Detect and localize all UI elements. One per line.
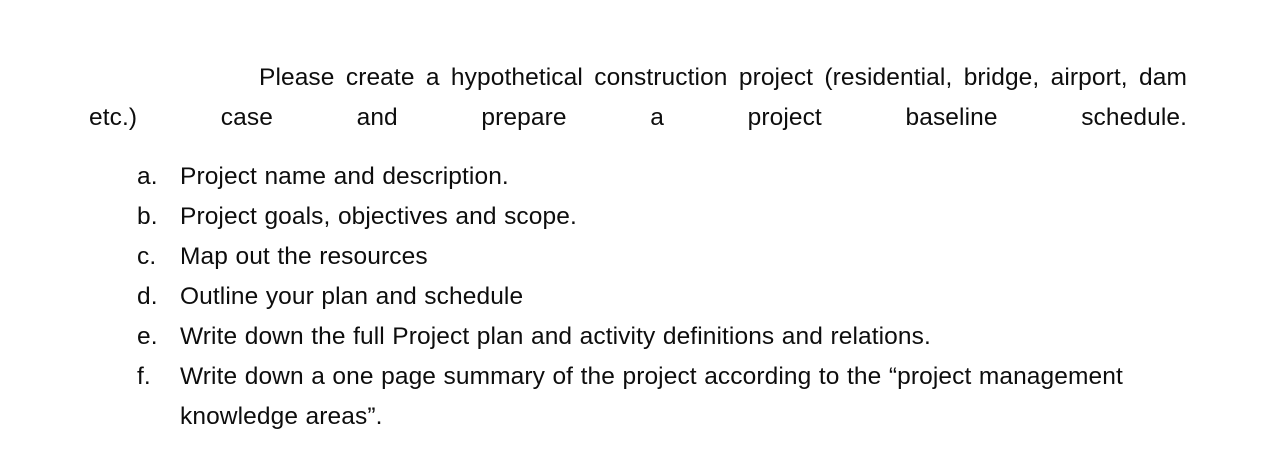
list-item: b. Project goals, objectives and scope. (0, 197, 1263, 237)
list-item-label: Write down the full Project plan and act… (180, 317, 1203, 357)
list-marker: c. (137, 237, 177, 277)
list-item: a. Project name and description. (0, 157, 1263, 197)
list-item-label: Map out the resources (180, 237, 1203, 277)
lettered-list: a. Project name and description. b. Proj… (0, 157, 1263, 437)
list-marker: d. (137, 277, 177, 317)
list-item: e. Write down the full Project plan and … (0, 317, 1263, 357)
list-item-label: Project goals, objectives and scope. (180, 197, 1203, 237)
list-marker: b. (137, 197, 177, 237)
list-item-label: Outline your plan and schedule (180, 277, 1203, 317)
list-item: d. Outline your plan and schedule (0, 277, 1263, 317)
document-page: Please create a hypothetical constructio… (0, 0, 1263, 461)
list-marker: a. (137, 157, 177, 197)
list-item-label: Write down a one page summary of the pro… (180, 357, 1190, 437)
list-item-label: Project name and description. (180, 157, 1203, 197)
list-item: f. Write down a one page summary of the … (0, 357, 1263, 437)
list-marker: f. (137, 357, 177, 397)
list-marker: e. (137, 317, 177, 357)
list-item: c. Map out the resources (0, 237, 1263, 277)
